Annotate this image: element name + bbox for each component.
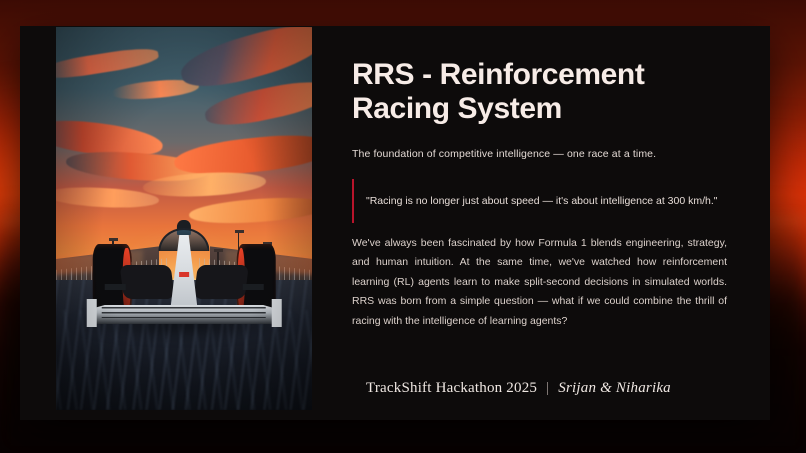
- footer-event-name: TrackShift Hackathon 2025: [366, 380, 537, 397]
- footer-authors: Srijan & Niharika: [558, 380, 671, 397]
- formula-one-car: [87, 219, 282, 334]
- sidepod-left: [120, 265, 175, 299]
- slide-content: RRS - Reinforcement Racing System The fo…: [352, 27, 746, 410]
- bargeboard-right: [242, 284, 263, 290]
- sidepod-right: [194, 265, 249, 299]
- body-paragraph: We've always been fascinated by how Form…: [352, 234, 727, 331]
- f1-sunset-illustration: [56, 27, 312, 410]
- slide-footer: TrackShift Hackathon 2025 | Srijan & Nih…: [366, 380, 671, 397]
- quote-accent-bar: [352, 179, 354, 223]
- slide-subtitle: The foundation of competitive intelligen…: [352, 148, 746, 160]
- footer-separator: |: [546, 380, 549, 397]
- front-wing: [91, 305, 278, 325]
- page-title: RRS - Reinforcement Racing System: [352, 58, 746, 125]
- bargeboard-left: [104, 284, 125, 290]
- front-wing-endplate-right: [272, 299, 282, 327]
- pull-quote: "Racing is no longer just about speed — …: [352, 183, 746, 210]
- front-wing-endplate-left: [87, 299, 97, 327]
- quote-text: "Racing is no longer just about speed — …: [366, 183, 746, 210]
